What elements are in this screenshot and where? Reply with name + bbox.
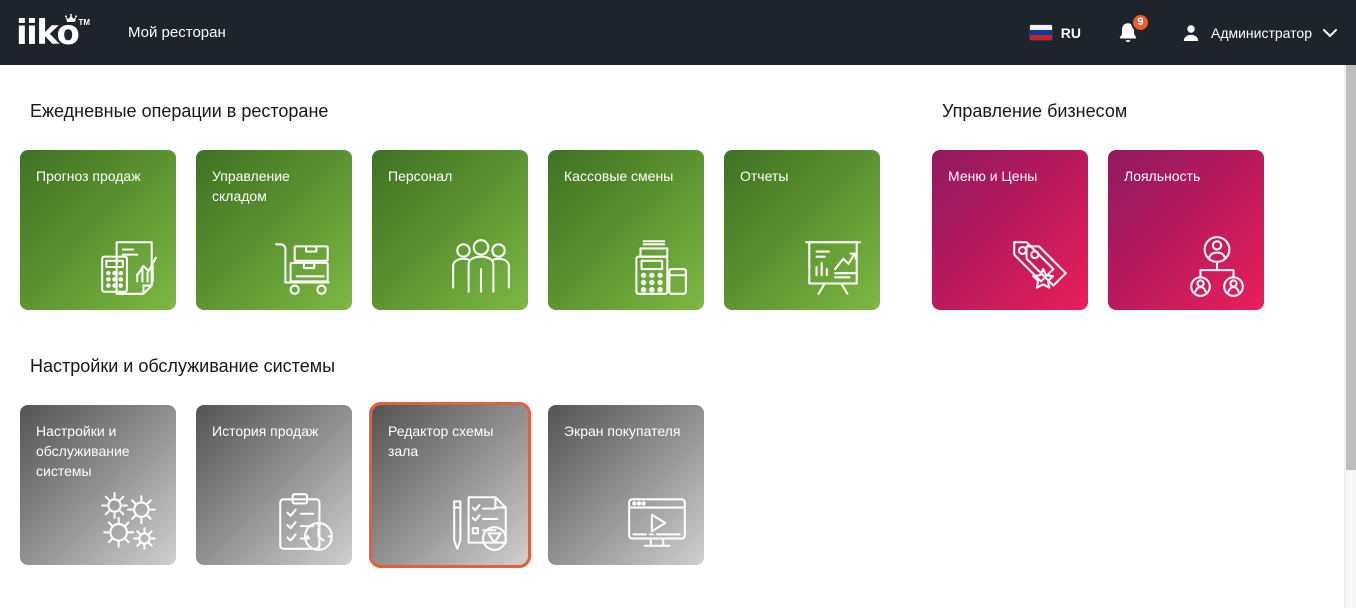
russia-flag-icon: [1030, 25, 1052, 40]
tile-sales-history[interactable]: История продаж: [196, 405, 352, 565]
tile-label: История продаж: [212, 421, 340, 441]
pos-terminal-icon: [624, 234, 690, 300]
brand-title: Мой ресторан: [128, 24, 226, 41]
hall-editor-icon: [448, 489, 514, 555]
section-title-business: Управление бизнесом: [942, 101, 1127, 122]
tile-reports[interactable]: Отчеты: [724, 150, 880, 310]
tile-sales-forecast[interactable]: Прогноз продаж: [20, 150, 176, 310]
top-header-bar: iiko TM Мой ресторан RU 9: [0, 0, 1356, 65]
clipboard-clock-icon: [272, 489, 338, 555]
customer-screen-icon: [624, 489, 690, 555]
iiko-logo[interactable]: iiko TM: [16, 16, 90, 50]
language-switcher[interactable]: RU: [1030, 25, 1081, 41]
header-right-controls: RU 9 Администратор: [1030, 0, 1356, 65]
gears-icon: [96, 489, 162, 555]
main-content: Ежедневные операции в ресторане Прогноз …: [0, 65, 1344, 608]
vertical-scrollbar-track[interactable]: [1344, 65, 1356, 608]
user-avatar-icon: [1181, 23, 1201, 43]
user-name-label: Администратор: [1211, 25, 1312, 41]
iiko-crown-icon: [65, 14, 77, 26]
section-title-daily: Ежедневные операции в ресторане: [30, 101, 328, 122]
tile-label: Меню и Цены: [948, 166, 1076, 186]
user-menu[interactable]: Администратор: [1181, 23, 1338, 43]
tile-loyalty[interactable]: Лояльность: [1108, 150, 1264, 310]
tile-label: Персонал: [388, 166, 516, 186]
tile-label: Редактор схемы зала: [388, 421, 516, 461]
loyalty-users-icon: [1184, 234, 1250, 300]
tile-personnel[interactable]: Персонал: [372, 150, 528, 310]
tile-warehouse[interactable]: Управление складом: [196, 150, 352, 310]
tile-label: Отчеты: [740, 166, 868, 186]
people-group-icon: [448, 234, 514, 300]
tile-row-daily: Прогноз продаж Управление складом: [20, 150, 880, 310]
chevron-down-icon: [1322, 28, 1338, 38]
reports-chart-icon: [800, 234, 866, 300]
tile-label: Прогноз продаж: [36, 166, 164, 186]
language-label: RU: [1061, 25, 1081, 41]
sales-forecast-icon: [96, 234, 162, 300]
price-tags-icon: [1008, 234, 1074, 300]
tile-system-settings[interactable]: Настройки и обслуживание системы: [20, 405, 176, 565]
tile-label: Экран покупателя: [564, 421, 692, 441]
tile-label: Управление складом: [212, 166, 340, 206]
section-title-system: Настройки и обслуживание системы: [30, 356, 335, 377]
tile-label: Лояльность: [1124, 166, 1252, 186]
tile-cash-shifts[interactable]: Кассовые смены: [548, 150, 704, 310]
notifications-button[interactable]: 9: [1115, 18, 1141, 48]
tile-row-business: Меню и Цены Лояльность: [932, 150, 1264, 310]
tile-label: Настройки и обслуживание системы: [36, 421, 164, 481]
tile-label: Кассовые смены: [564, 166, 692, 186]
tile-hall-scheme-editor[interactable]: Редактор схемы зала: [372, 405, 528, 565]
tile-row-system: Настройки и обслуживание системы: [20, 405, 704, 565]
logo-trademark: TM: [78, 18, 90, 27]
notification-badge: 9: [1131, 13, 1150, 32]
tile-menu-prices[interactable]: Меню и Цены: [932, 150, 1088, 310]
vertical-scrollbar-thumb[interactable]: [1346, 65, 1356, 470]
tile-customer-screen[interactable]: Экран покупателя: [548, 405, 704, 565]
warehouse-cart-icon: [272, 234, 338, 300]
